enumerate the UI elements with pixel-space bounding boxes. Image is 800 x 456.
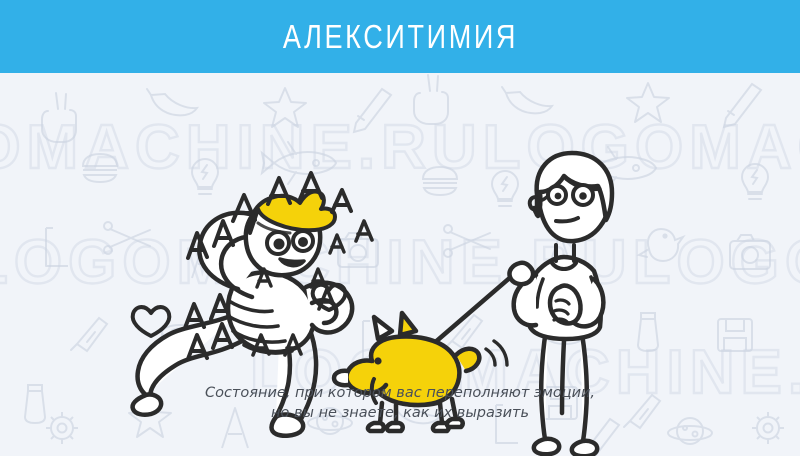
leash bbox=[425, 269, 520, 351]
illustration-stage: LOGOMACHINE.RULOGOMACHINE.RULOGOMACHINE.… bbox=[0, 73, 800, 456]
caption-line-1: Состояние, при котором вас переполняют э… bbox=[0, 383, 800, 403]
caption: Состояние, при котором вас переполняют э… bbox=[0, 383, 800, 423]
caption-line-2: но вы не знаете, как их выразить bbox=[0, 403, 800, 423]
page-title: АЛЕКСИТИМИЯ bbox=[282, 18, 517, 56]
poster: АЛЕКСИТИМИЯ bbox=[0, 0, 800, 456]
header-band: АЛЕКСИТИМИЯ bbox=[0, 0, 800, 73]
